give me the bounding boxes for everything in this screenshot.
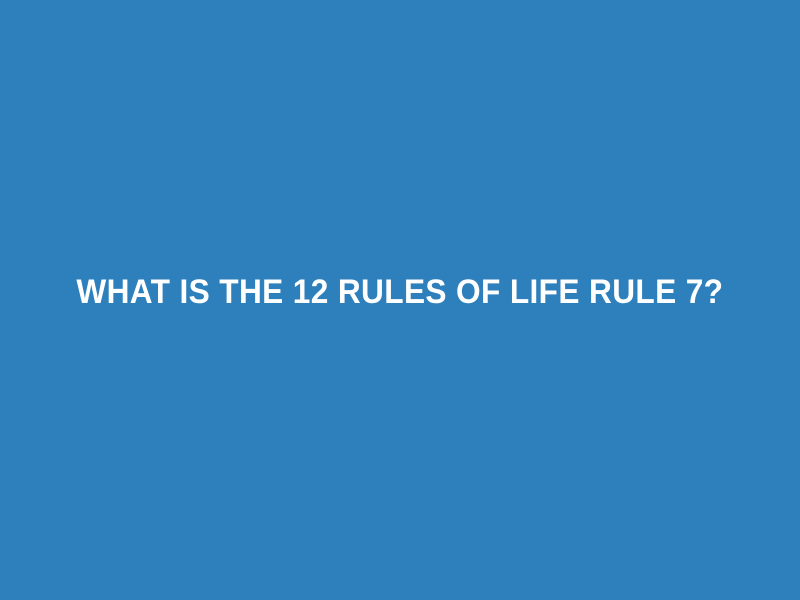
banner-card: WHAT IS THE 12 RULES OF LIFE RULE 7?: [0, 0, 800, 600]
headline-container: WHAT IS THE 12 RULES OF LIFE RULE 7?: [0, 274, 800, 311]
page-title: WHAT IS THE 12 RULES OF LIFE RULE 7?: [39, 274, 760, 311]
